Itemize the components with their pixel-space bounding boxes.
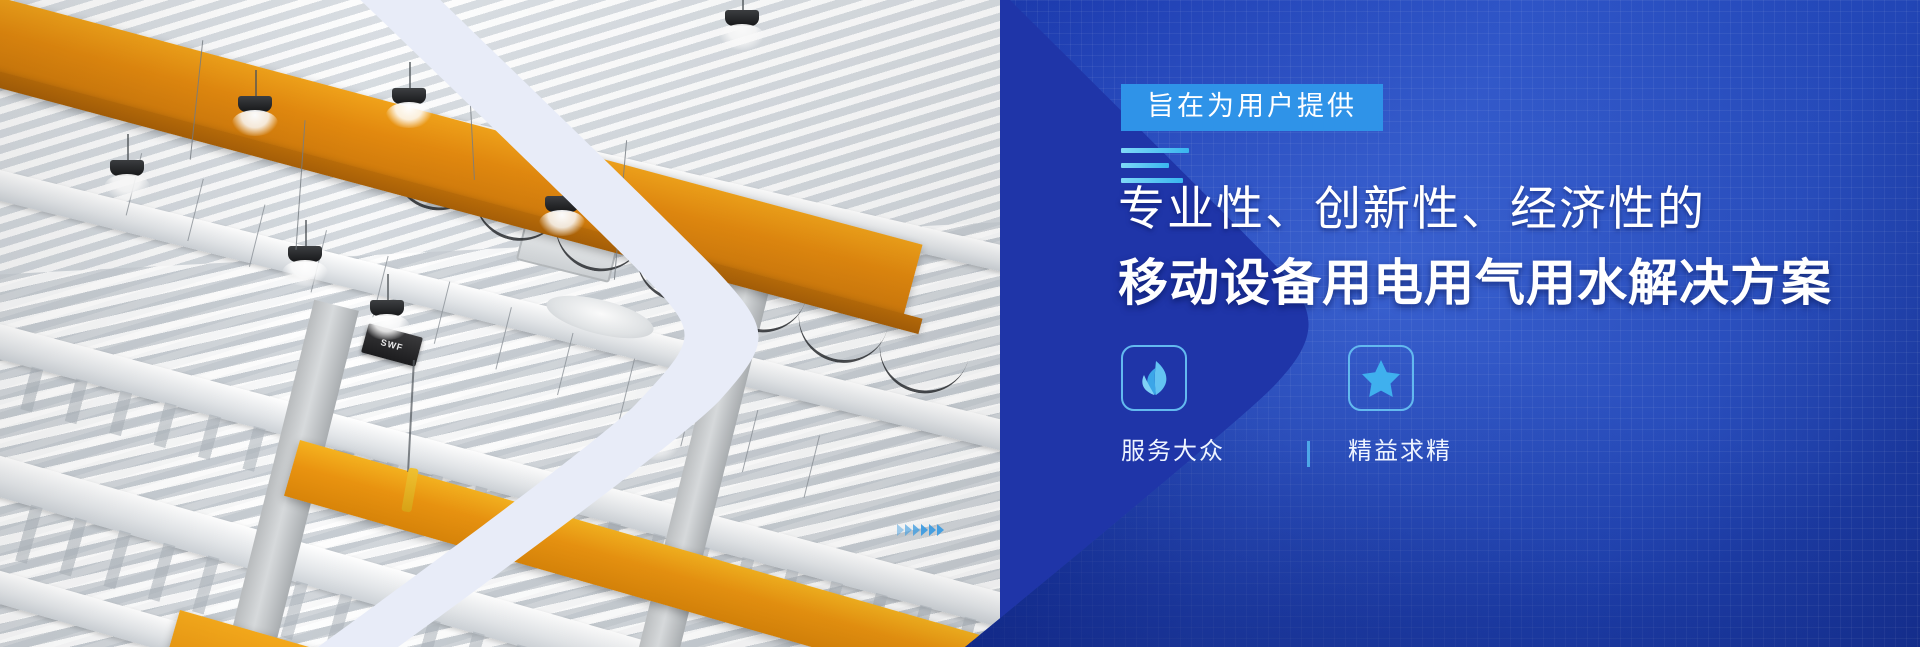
feature-list: 服务大众 精益求精: [1121, 345, 1520, 467]
headline-line-2: 移动设备用电用气用水解决方案: [1118, 258, 1832, 308]
chevron-right-icon: [929, 524, 936, 536]
chevron-arrows-decoration: [897, 524, 944, 536]
star-icon: [1361, 359, 1401, 397]
feature-item-service: 服务大众: [1121, 345, 1293, 466]
star-icon-frame: [1348, 345, 1414, 411]
banner-content: 旨在为用户提供 专业性、创新性、经济性的 移动设备用电用气用水解决方案 服务大众: [1121, 0, 1881, 647]
chevron-right-icon: [921, 524, 928, 536]
leaf-icon: [1136, 359, 1172, 397]
warehouse-photo: SWF: [0, 0, 1000, 647]
tick-line: [1121, 163, 1169, 168]
feature-separator: [1307, 441, 1310, 467]
chevron-right-icon: [897, 524, 904, 536]
feature-label: 精益求精: [1348, 431, 1520, 466]
chevron-right-icon: [937, 524, 944, 536]
leaf-icon-frame: [1121, 345, 1187, 411]
photo-overlay: [0, 0, 1000, 647]
chevron-right-icon: [905, 524, 912, 536]
feature-label: 服务大众: [1121, 431, 1293, 466]
hero-banner: SWF 旨在为用户提供: [0, 0, 1920, 647]
tick-line: [1121, 148, 1189, 153]
feature-item-excellence: 精益求精: [1348, 345, 1520, 466]
banner-badge: 旨在为用户提供: [1121, 84, 1383, 131]
headline-line-1: 专业性、创新性、经济性的: [1118, 185, 1706, 232]
chevron-right-icon: [913, 524, 920, 536]
